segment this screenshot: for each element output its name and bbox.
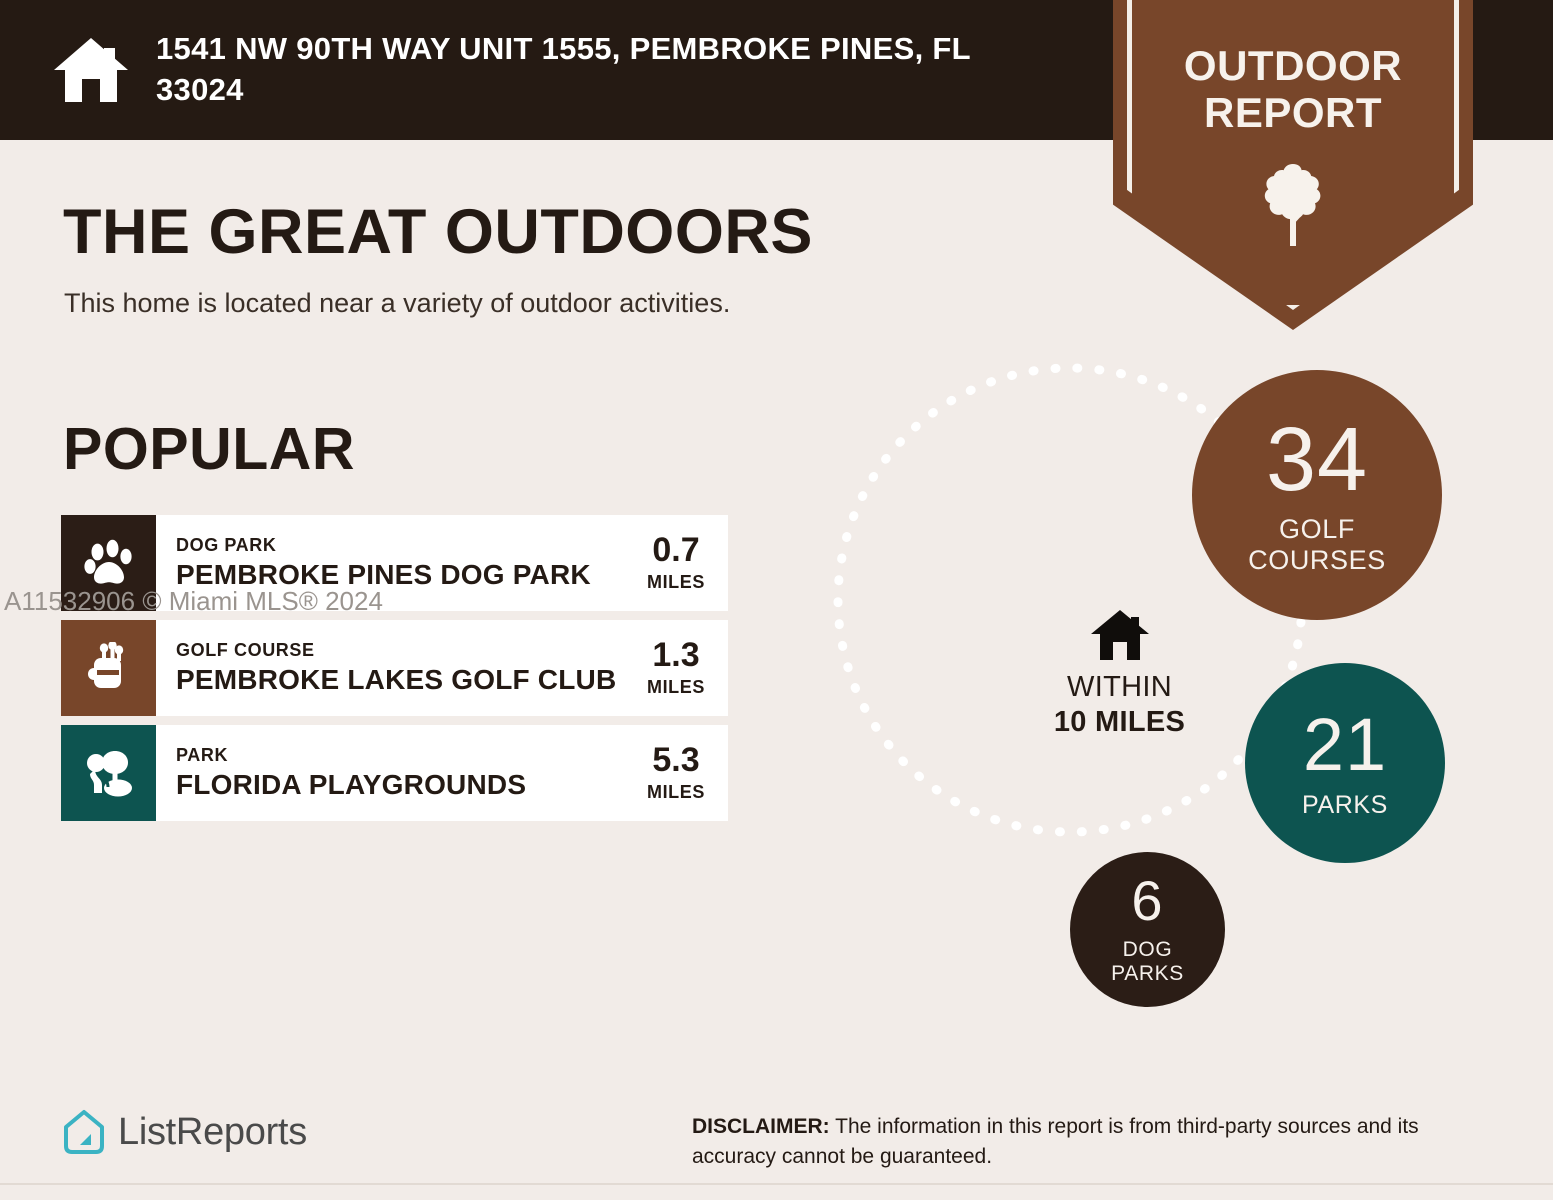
stat-circle-parks: 21 PARKS — [1245, 663, 1445, 863]
stat-value: 21 — [1303, 708, 1387, 782]
poi-icon-tile — [61, 620, 156, 716]
footer-divider — [0, 1183, 1553, 1185]
mls-watermark: A11532906 © Miami MLS® 2024 — [4, 586, 383, 617]
badge-title: OUTDOOR REPORT — [1113, 42, 1473, 136]
badge-title-line1: OUTDOOR — [1113, 42, 1473, 89]
poi-category: PARK — [176, 744, 632, 767]
property-address: 1541 NW 90TH WAY UNIT 1555, PEMBROKE PIN… — [156, 29, 996, 111]
within-label: WITHIN — [1032, 670, 1207, 705]
stat-label-line1: PARKS — [1302, 791, 1388, 819]
poi-distance-unit: MILES — [647, 677, 705, 698]
poi-distance: 0.7 MILES — [632, 515, 728, 611]
stat-label-line1: DOG — [1111, 938, 1184, 962]
popular-heading: POPULAR — [63, 415, 355, 483]
stat-label: GOLF COURSES — [1248, 514, 1386, 574]
poi-distance-value: 5.3 — [652, 743, 699, 777]
popular-list: DOG PARK PEMBROKE PINES DOG PARK 0.7 MIL… — [61, 515, 728, 830]
page-subtitle: This home is located near a variety of o… — [64, 288, 730, 319]
stat-value: 34 — [1266, 415, 1368, 505]
poi-distance-unit: MILES — [647, 572, 705, 593]
listreports-logo-text: ListReports — [118, 1111, 307, 1154]
stat-circle-dog-parks: 6 DOG PARKS — [1070, 852, 1225, 1007]
poi-distance-value: 0.7 — [652, 533, 699, 567]
disclaimer-label: DISCLAIMER: — [692, 1115, 830, 1138]
poi-distance-value: 1.3 — [652, 638, 699, 672]
poi-distance: 5.3 MILES — [632, 725, 728, 821]
listreports-logo[interactable]: ListReports — [61, 1108, 307, 1156]
poi-distance-unit: MILES — [647, 782, 705, 803]
list-item[interactable]: GOLF COURSE PEMBROKE LAKES GOLF CLUB 1.3… — [61, 620, 728, 716]
stat-label-line1: GOLF — [1248, 514, 1386, 544]
poi-text: PARK FLORIDA PLAYGROUNDS — [156, 725, 632, 821]
poi-icon-tile — [61, 725, 156, 821]
list-item[interactable]: PARK FLORIDA PLAYGROUNDS 5.3 MILES — [61, 725, 728, 821]
paw-icon — [83, 537, 135, 589]
within-distance-value: 10 MILES — [1032, 705, 1207, 740]
stat-label: DOG PARKS — [1111, 938, 1184, 985]
poi-name: PEMBROKE LAKES GOLF CLUB — [176, 663, 632, 697]
home-icon — [1089, 608, 1151, 662]
within-block: WITHIN 10 MILES — [1032, 608, 1207, 740]
tree-icon — [1258, 160, 1328, 250]
outdoor-report-badge: OUTDOOR REPORT — [1113, 0, 1473, 330]
poi-category: GOLF COURSE — [176, 639, 632, 662]
poi-name: FLORIDA PLAYGROUNDS — [176, 768, 632, 802]
home-icon — [52, 36, 130, 104]
park-trees-icon — [83, 747, 135, 799]
listreports-house-icon — [61, 1108, 107, 1156]
within-distance-infographic: WITHIN 10 MILES 34 GOLF COURSES 21 PARKS… — [820, 350, 1500, 1070]
stat-label-line2: COURSES — [1248, 545, 1386, 575]
golf-bag-icon — [83, 642, 135, 694]
stat-circle-golf-courses: 34 GOLF COURSES — [1192, 370, 1442, 620]
stat-label: PARKS — [1302, 791, 1388, 819]
footer-disclaimer: DISCLAIMER: The information in this repo… — [692, 1112, 1492, 1173]
stat-value: 6 — [1131, 873, 1163, 929]
badge-title-line2: REPORT — [1113, 89, 1473, 136]
stat-label-line2: PARKS — [1111, 962, 1184, 986]
page-title: THE GREAT OUTDOORS — [63, 196, 813, 268]
poi-category: DOG PARK — [176, 534, 632, 557]
poi-distance: 1.3 MILES — [632, 620, 728, 716]
poi-text: GOLF COURSE PEMBROKE LAKES GOLF CLUB — [156, 620, 632, 716]
